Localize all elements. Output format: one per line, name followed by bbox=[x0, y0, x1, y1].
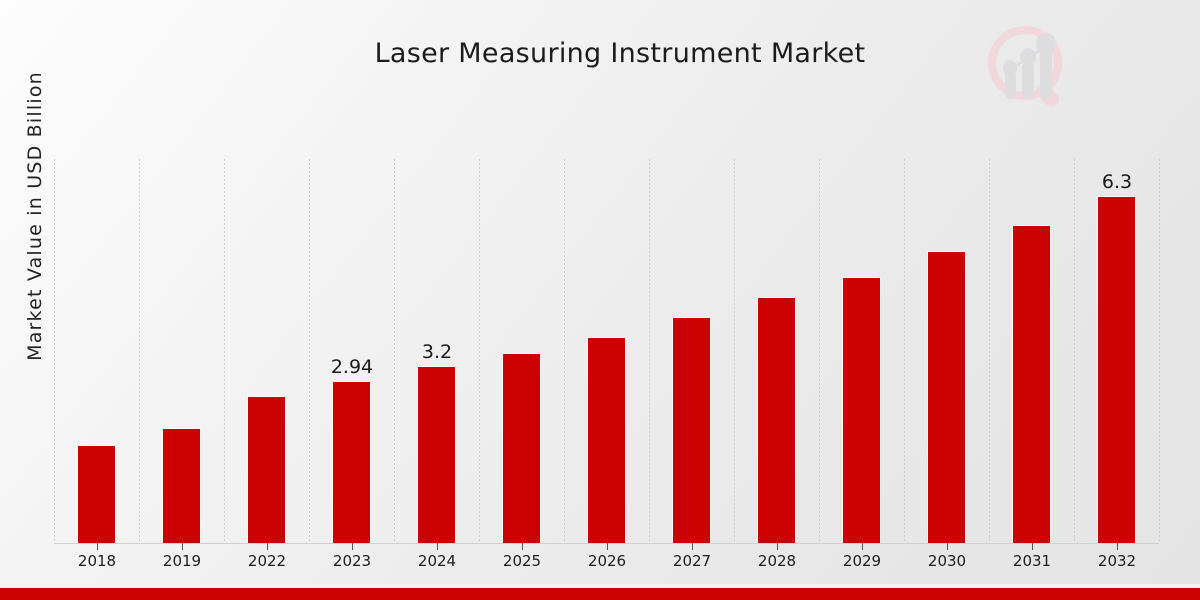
bar-2023[interactable] bbox=[333, 382, 370, 543]
gridline bbox=[989, 159, 990, 543]
bar-value-label-2032: 6.3 bbox=[1077, 171, 1157, 193]
gridline bbox=[734, 159, 735, 543]
x-axis-label-2024: 2024 bbox=[397, 552, 477, 570]
x-axis-tick-2024 bbox=[437, 543, 438, 550]
bar-2026[interactable] bbox=[588, 338, 625, 543]
x-axis-label-2031: 2031 bbox=[992, 552, 1072, 570]
x-axis-tick-2029 bbox=[862, 543, 863, 550]
bar-2027[interactable] bbox=[673, 318, 710, 543]
bar-2030[interactable] bbox=[928, 252, 965, 543]
x-axis-label-2025: 2025 bbox=[482, 552, 562, 570]
x-axis-label-2026: 2026 bbox=[567, 552, 647, 570]
gridline bbox=[1074, 159, 1075, 543]
x-axis-tick-2028 bbox=[777, 543, 778, 550]
x-axis-label-2032: 2032 bbox=[1077, 552, 1157, 570]
magnifier-bar-chart-logo-icon bbox=[983, 23, 1077, 113]
footer-accent-band bbox=[0, 588, 1200, 600]
bar-2031[interactable] bbox=[1013, 226, 1050, 543]
x-axis-tick-2018 bbox=[97, 543, 98, 550]
x-axis-label-2028: 2028 bbox=[737, 552, 817, 570]
gridline bbox=[904, 159, 905, 543]
bar-2022[interactable] bbox=[248, 397, 285, 543]
gridline bbox=[819, 159, 820, 543]
gridline bbox=[139, 159, 140, 543]
bar-2032[interactable] bbox=[1098, 197, 1135, 543]
gridline bbox=[479, 159, 480, 543]
x-axis-tick-2019 bbox=[182, 543, 183, 550]
x-axis-tick-2025 bbox=[522, 543, 523, 550]
x-axis-label-2018: 2018 bbox=[57, 552, 137, 570]
gridline bbox=[309, 159, 310, 543]
gridline bbox=[649, 159, 650, 543]
x-axis-label-2027: 2027 bbox=[652, 552, 732, 570]
bar-2019[interactable] bbox=[163, 429, 200, 543]
gridline bbox=[224, 159, 225, 543]
x-axis-label-2030: 2030 bbox=[907, 552, 987, 570]
x-axis-tick-2031 bbox=[1032, 543, 1033, 550]
gridline bbox=[394, 159, 395, 543]
x-axis-tick-2030 bbox=[947, 543, 948, 550]
x-axis-tick-2023 bbox=[352, 543, 353, 550]
x-axis-label-2023: 2023 bbox=[312, 552, 392, 570]
bar-2025[interactable] bbox=[503, 354, 540, 543]
bar-2029[interactable] bbox=[843, 278, 880, 543]
bar-2024[interactable] bbox=[418, 367, 455, 543]
gridline bbox=[1159, 159, 1160, 543]
chart-page: Laser Measuring Instrument Market Market… bbox=[0, 0, 1200, 600]
x-axis-tick-2032 bbox=[1117, 543, 1118, 550]
bar-2018[interactable] bbox=[78, 446, 115, 543]
bar-2028[interactable] bbox=[758, 298, 795, 543]
x-axis-label-2019: 2019 bbox=[142, 552, 222, 570]
gridline bbox=[564, 159, 565, 543]
gridline bbox=[54, 159, 55, 543]
bar-value-label-2023: 2.94 bbox=[312, 356, 392, 378]
x-axis-tick-2026 bbox=[607, 543, 608, 550]
x-axis-tick-2027 bbox=[692, 543, 693, 550]
y-axis-label: Market Value in USD Billion bbox=[24, 26, 46, 406]
x-axis-label-2029: 2029 bbox=[822, 552, 902, 570]
bar-value-label-2024: 3.2 bbox=[397, 341, 477, 363]
x-axis-tick-2022 bbox=[267, 543, 268, 550]
x-axis-label-2022: 2022 bbox=[227, 552, 307, 570]
